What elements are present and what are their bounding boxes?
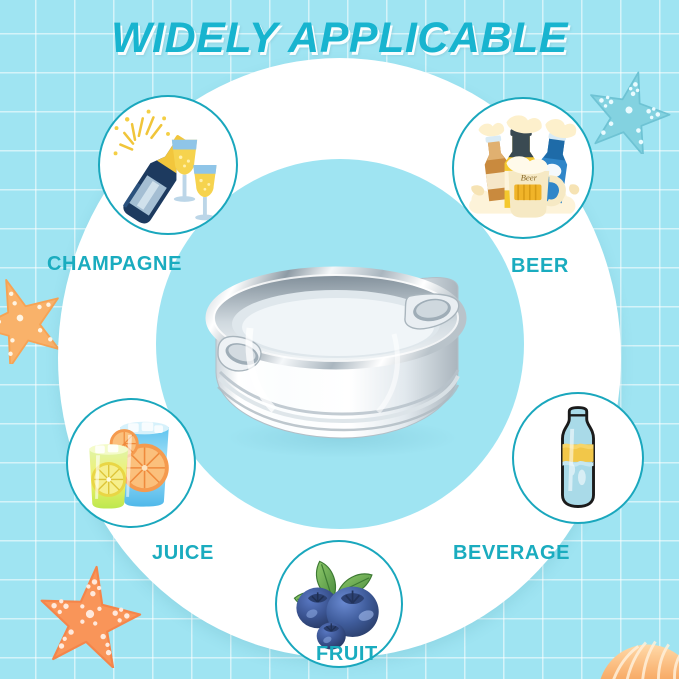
infographic-canvas: WIDELY APPLICABLE (0, 0, 679, 679)
category-label-beer: BEER (511, 255, 569, 278)
category-icon-champagne[interactable] (98, 95, 238, 235)
category-label-champagne: CHAMPAGNE (47, 253, 182, 276)
category-label-beverage: BEVERAGE (453, 542, 570, 565)
category-icon-beer[interactable]: Beer (452, 97, 594, 239)
starfish-icon (0, 272, 66, 364)
page-title: WIDELY APPLICABLE (0, 14, 679, 63)
category-icon-juice[interactable] (66, 398, 196, 528)
product-image-beverage-tub (196, 232, 476, 462)
category-label-juice: JUICE (152, 542, 214, 565)
category-icon-beverage[interactable] (512, 392, 644, 524)
category-label-fruit: FRUIT (316, 643, 378, 666)
